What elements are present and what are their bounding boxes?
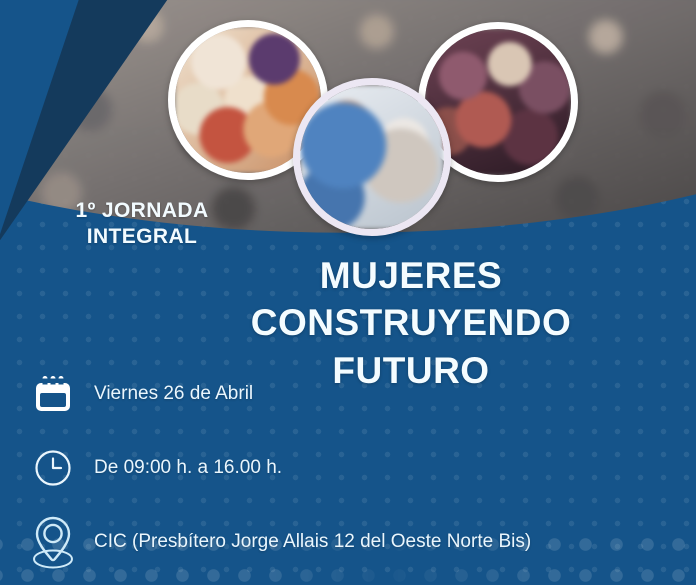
event-time-text: De 09:00 h. a 16.00 h. — [82, 457, 282, 480]
title-line-3: FUTURO — [196, 347, 626, 394]
event-time-row: De 09:00 h. a 16.00 h. — [24, 446, 282, 490]
title-line-1: MUJERES — [196, 252, 626, 299]
event-title: MUJERES CONSTRUYENDO FUTURO — [196, 252, 626, 394]
poster-canvas: 1º JORNADA INTEGRAL MUJERES CONSTRUYENDO… — [0, 0, 696, 585]
location-pin-icon — [24, 512, 82, 572]
photo-caregiver-elderly-image — [300, 85, 444, 229]
kicker-line-1: 1º JORNADA — [22, 198, 262, 224]
event-kicker: 1º JORNADA INTEGRAL — [22, 198, 262, 251]
event-location-row: CIC (Presbítero Jorge Allais 12 del Oest… — [24, 512, 531, 572]
event-date-row: Viernes 26 de Abril — [24, 372, 253, 416]
event-date-text: Viernes 26 de Abril — [82, 383, 253, 406]
clock-icon — [24, 446, 82, 490]
photo-caregiver-elderly — [293, 78, 451, 236]
calendar-icon — [24, 372, 82, 416]
title-line-2: CONSTRUYENDO — [196, 299, 626, 346]
kicker-line-2: INTEGRAL — [22, 224, 262, 250]
event-location-text: CIC (Presbítero Jorge Allais 12 del Oest… — [82, 531, 531, 554]
